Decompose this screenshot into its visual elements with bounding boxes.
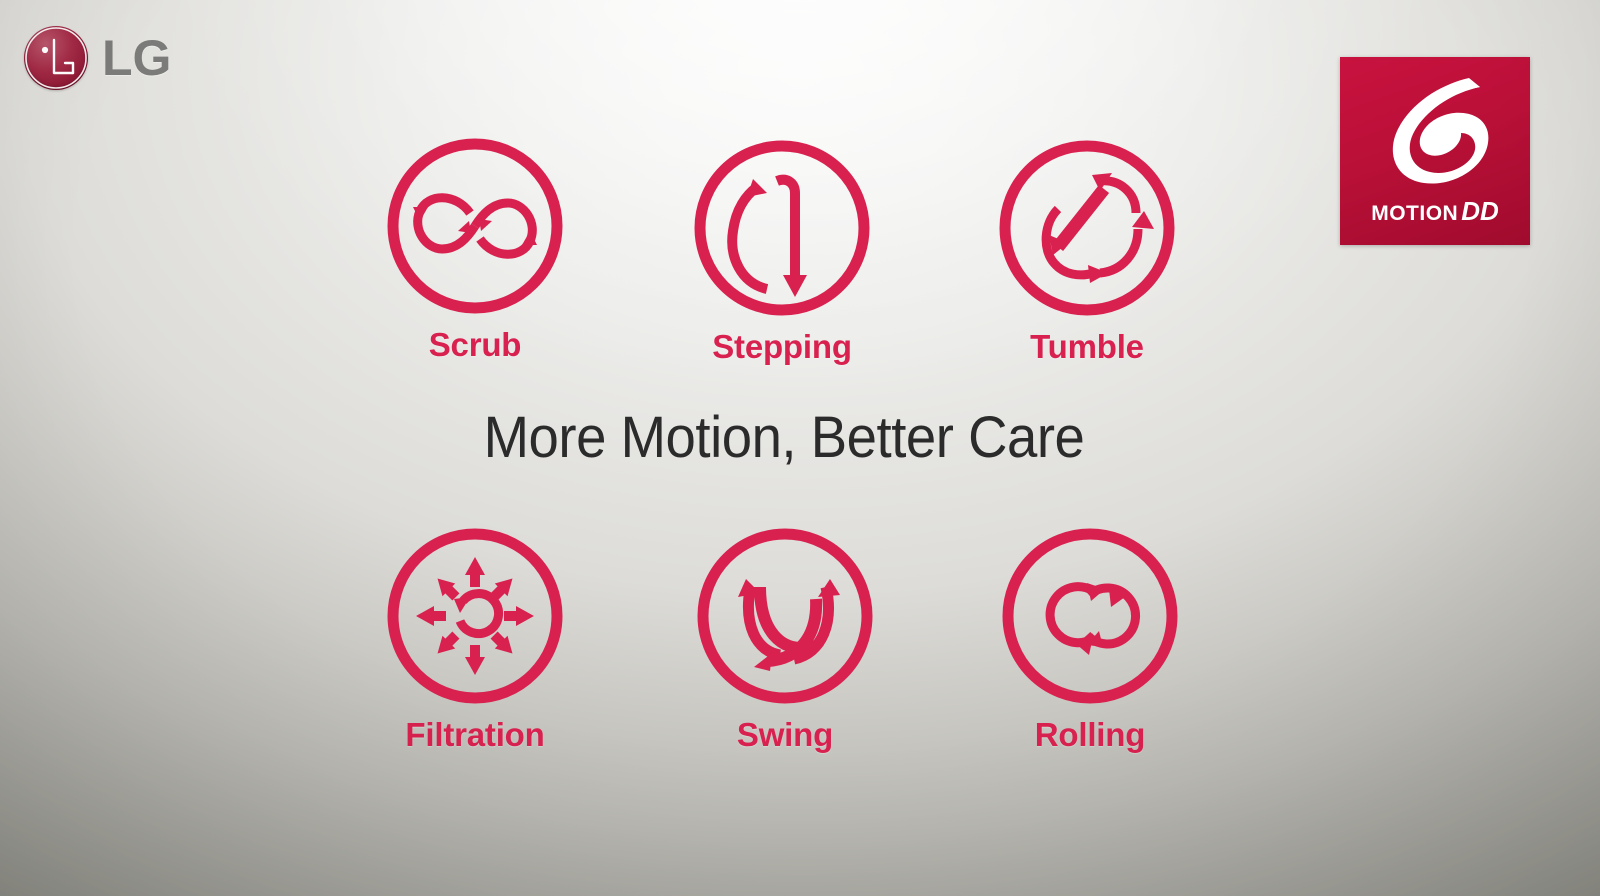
motion-label-rolling: Rolling: [970, 717, 1210, 753]
motion-label-tumble: Tumble: [967, 329, 1207, 365]
tumble-disc: [996, 137, 1178, 319]
infinity-arrows-icon: [418, 198, 533, 255]
motion-item-tumble[interactable]: Tumble: [967, 137, 1207, 365]
swing-disc: [694, 525, 876, 707]
motion-item-rolling[interactable]: Rolling: [970, 525, 1210, 753]
six-numeral-icon: [1340, 63, 1530, 191]
slide-canvas: LG MOTIONDD: [0, 0, 1600, 896]
six-motion-dd-badge: MOTIONDD: [1340, 57, 1530, 245]
badge-dd-label: DD: [1461, 196, 1499, 226]
motion-label-scrub: Scrub: [355, 327, 595, 363]
step-arrow-icon: [732, 180, 795, 289]
motion-item-scrub[interactable]: Scrub: [355, 135, 595, 363]
motion-label-filtration: Filtration: [355, 717, 595, 753]
motion-label-stepping: Stepping: [662, 329, 902, 365]
badge-motion-label: MOTION: [1371, 202, 1458, 225]
motion-item-swing[interactable]: Swing: [665, 525, 905, 753]
stepping-disc: [691, 137, 873, 319]
motion-label-swing: Swing: [665, 717, 905, 753]
lg-wordmark: LG: [102, 30, 171, 86]
radial-arrows-icon: [416, 557, 534, 675]
page-headline: More Motion, Better Care: [47, 404, 1521, 472]
lg-circle-mark-icon: [24, 26, 88, 90]
rolling-disc: [999, 525, 1181, 707]
filtration-disc: [384, 525, 566, 707]
scrub-disc: [384, 135, 566, 317]
badge-caption: MOTIONDD: [1340, 196, 1530, 227]
lg-logo: LG: [24, 22, 254, 94]
tumble-arrows-icon: [1046, 181, 1138, 275]
motion-item-filtration[interactable]: Filtration: [355, 525, 595, 753]
motion-item-stepping[interactable]: Stepping: [662, 137, 902, 365]
